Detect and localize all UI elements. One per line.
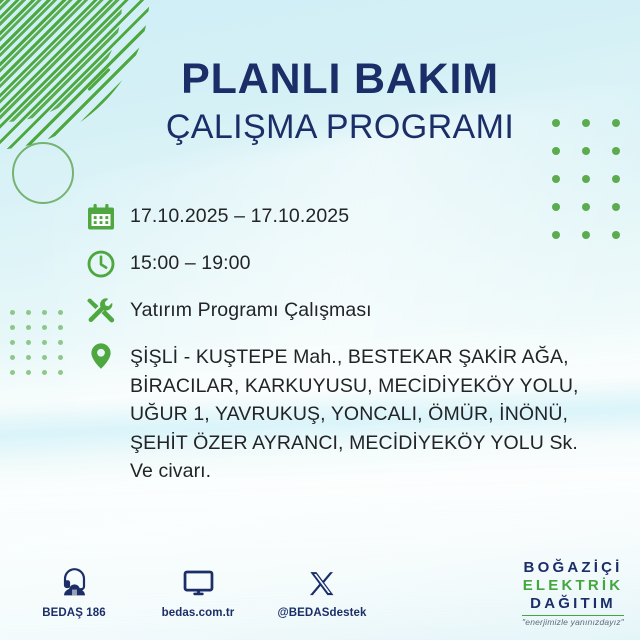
logo-line-2: ELEKTRİK bbox=[522, 578, 624, 593]
logo-divider bbox=[522, 615, 624, 616]
contact-social-label: @BEDASdestek bbox=[274, 607, 370, 619]
contact-phone[interactable]: BEDAŞ 186 bbox=[26, 562, 122, 619]
detail-date-text: 17.10.2025 – 17.10.2025 bbox=[130, 200, 349, 231]
diagonal-stripes-decoration-inner bbox=[0, 0, 150, 150]
clock-icon bbox=[86, 247, 130, 281]
detail-location-text: ŞİŞLİ - KUŞTEPE Mah., BESTEKAR ŞAKİR AĞA… bbox=[130, 341, 586, 486]
location-pin-icon bbox=[86, 341, 130, 371]
tools-icon bbox=[86, 294, 130, 328]
contact-channels: BEDAŞ 186 bedas.com.tr bbox=[26, 562, 370, 619]
detail-row-date: 17.10.2025 – 17.10.2025 bbox=[86, 200, 586, 234]
call-center-headset-icon bbox=[26, 562, 122, 600]
dot-grid-left-decoration bbox=[10, 310, 74, 385]
monitor-icon bbox=[150, 562, 246, 600]
title-line-primary: PLANLI BAKIM bbox=[130, 58, 550, 102]
logo-line-3: DAĞITIM bbox=[522, 596, 624, 611]
circle-outline-decoration bbox=[12, 142, 74, 204]
contact-website-label: bedas.com.tr bbox=[150, 607, 246, 619]
detail-row-worktype: Yatırım Programı Çalışması bbox=[86, 294, 586, 328]
logo-line-1: BOĞAZİÇİ bbox=[522, 560, 624, 575]
detail-row-time: 15:00 – 19:00 bbox=[86, 247, 586, 281]
maintenance-details: 17.10.2025 – 17.10.2025 15:00 – 19:00 bbox=[86, 200, 586, 499]
contact-social[interactable]: @BEDASdestek bbox=[274, 562, 370, 619]
planned-maintenance-poster: PLANLI BAKIM ÇALIŞMA PROGRAMI bbox=[0, 0, 640, 640]
contact-website[interactable]: bedas.com.tr bbox=[150, 562, 246, 619]
detail-worktype-text: Yatırım Programı Çalışması bbox=[130, 294, 372, 325]
logo-tagline: "enerjimizle yanınızdayız" bbox=[522, 618, 624, 627]
page-title: PLANLI BAKIM ÇALIŞMA PROGRAMI bbox=[130, 58, 550, 148]
contact-phone-label: BEDAŞ 186 bbox=[26, 607, 122, 619]
x-twitter-icon bbox=[274, 562, 370, 600]
detail-row-location: ŞİŞLİ - KUŞTEPE Mah., BESTEKAR ŞAKİR AĞA… bbox=[86, 341, 586, 486]
detail-time-text: 15:00 – 19:00 bbox=[130, 247, 251, 278]
title-line-secondary: ÇALIŞMA PROGRAMI bbox=[130, 107, 550, 148]
calendar-icon bbox=[86, 200, 130, 234]
footer: BEDAŞ 186 bedas.com.tr bbox=[0, 556, 640, 640]
bogazici-elektrik-dagitim-logo: BOĞAZİÇİ ELEKTRİK DAĞITIM "enerjimizle y… bbox=[522, 560, 624, 627]
